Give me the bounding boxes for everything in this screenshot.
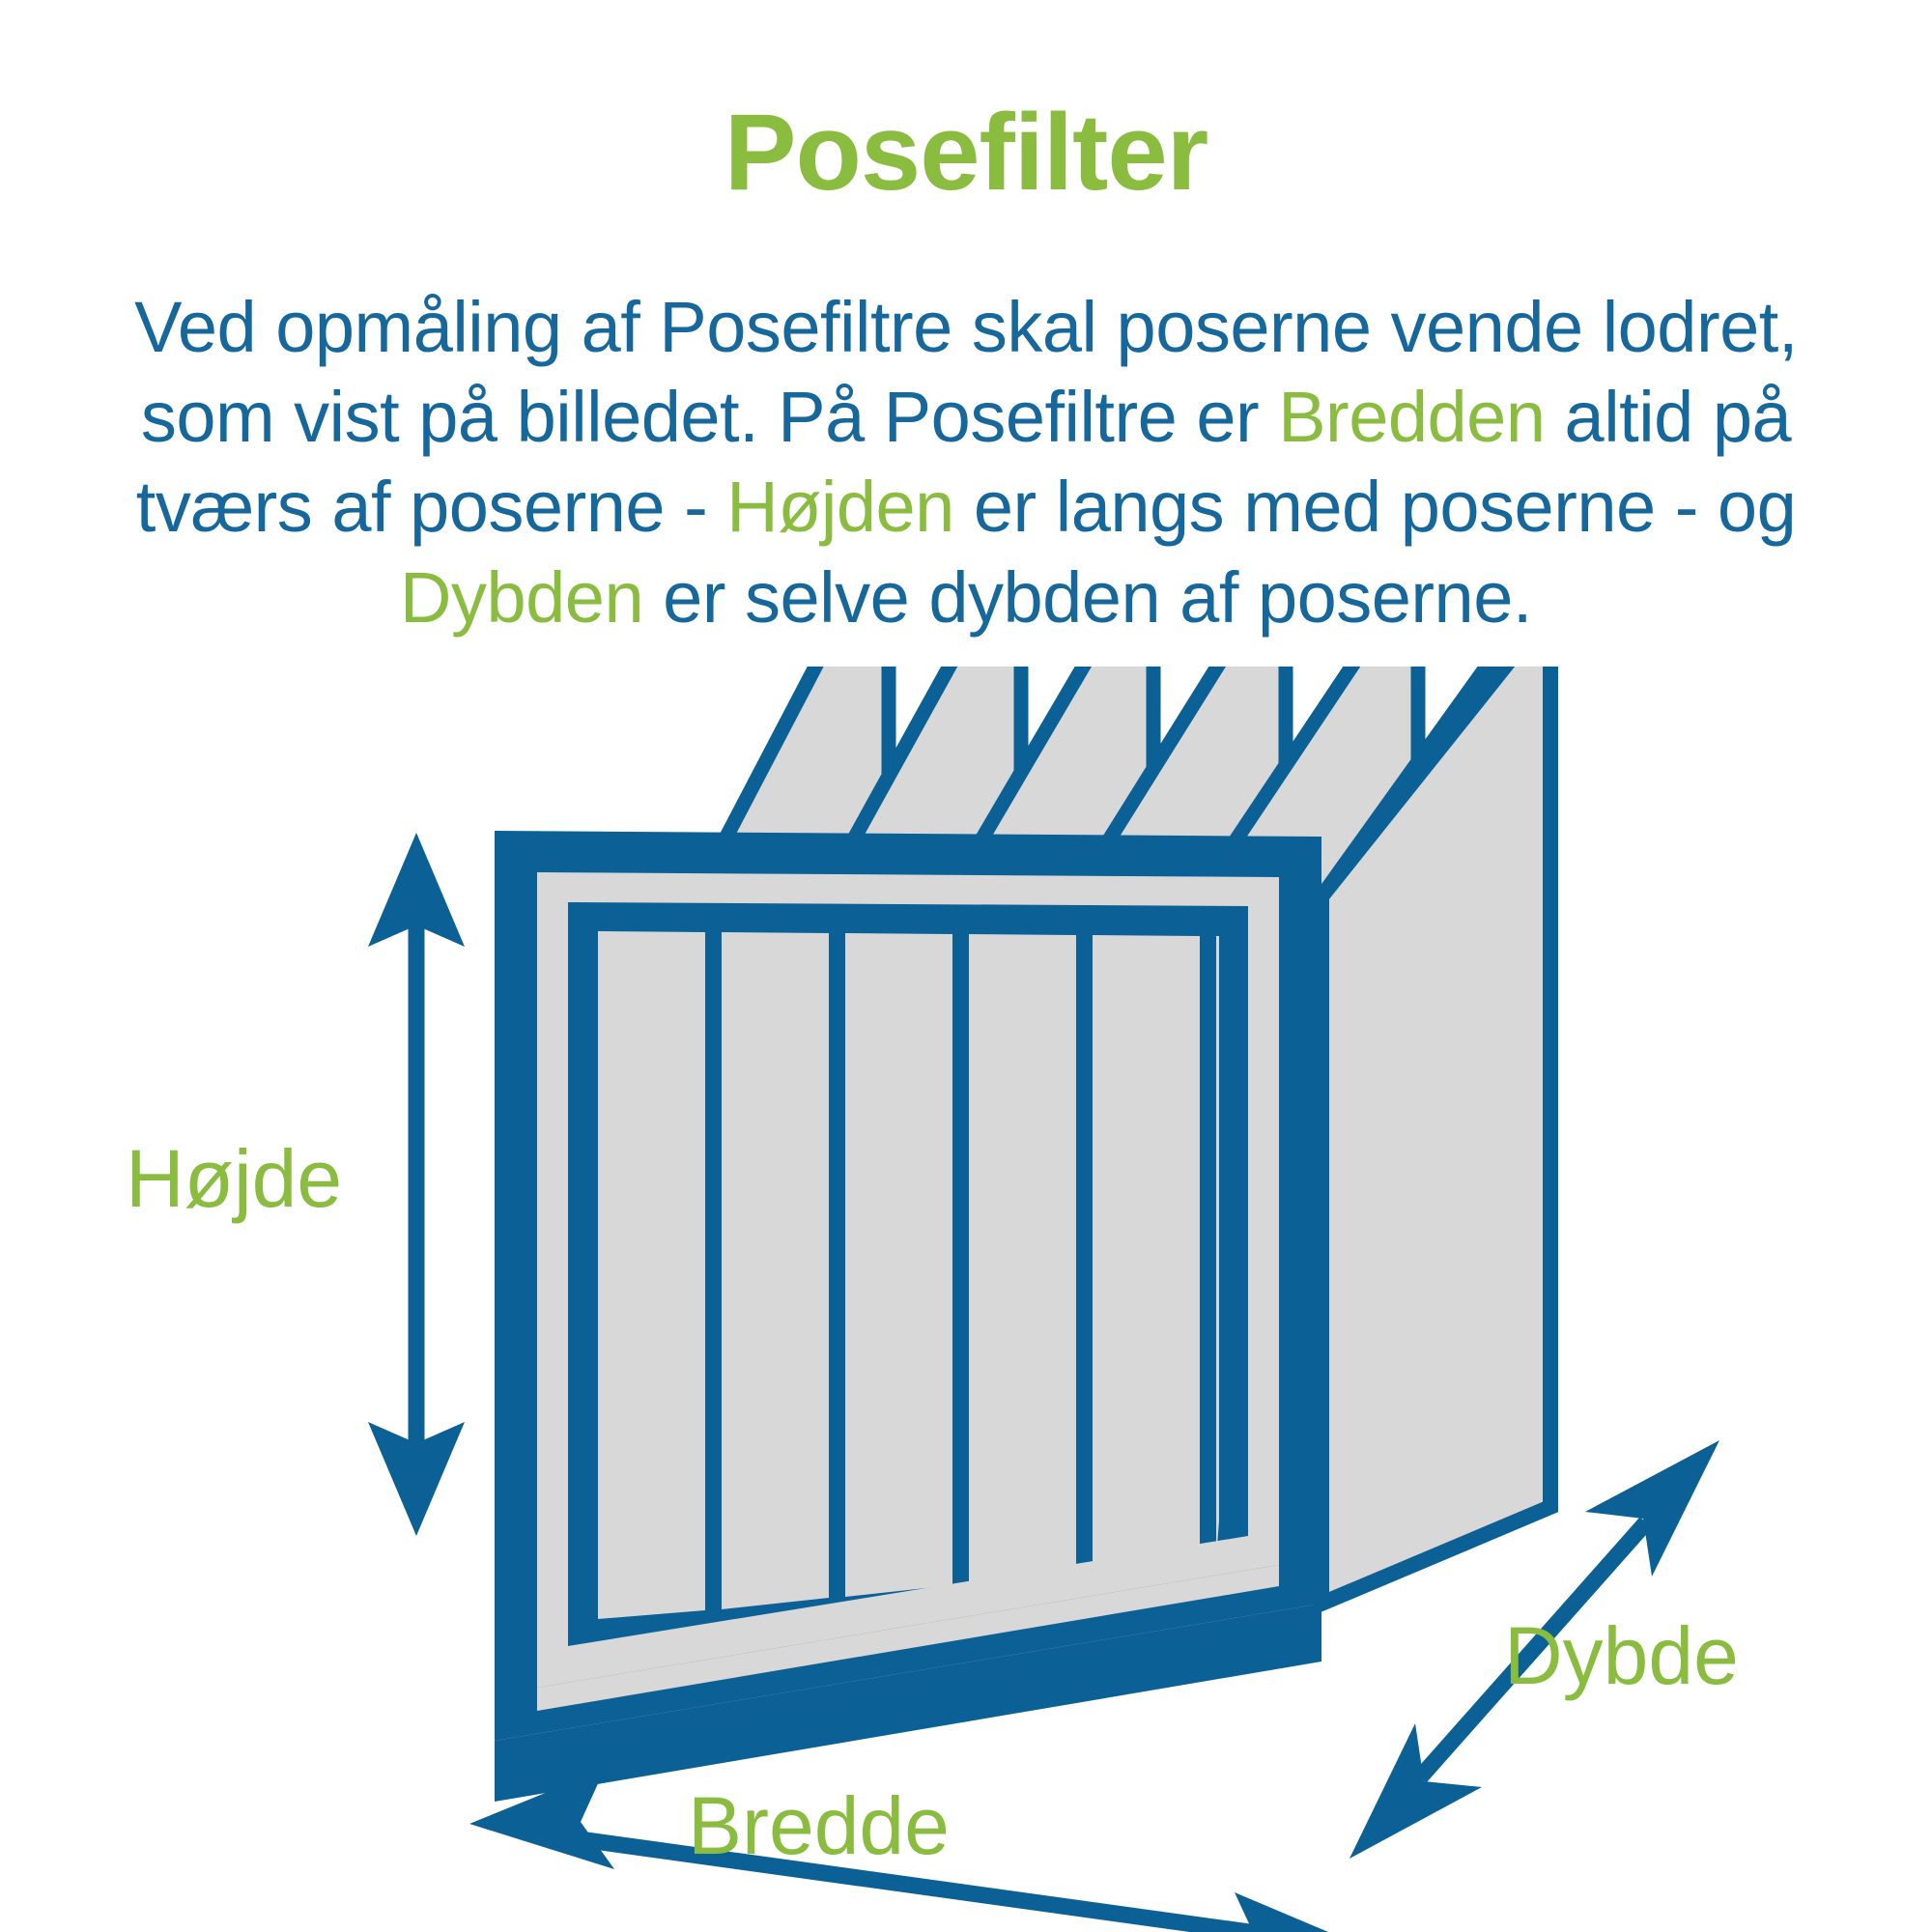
intro-segment-3: er langs med poserne - og bbox=[954, 467, 1796, 547]
bag-cell bbox=[1093, 935, 1200, 1572]
depth-dimension-label: Dybde bbox=[1504, 1615, 1739, 1696]
intro-highlight-dybden: Dybden bbox=[400, 557, 643, 638]
poster-canvas: Posefilter Ved opmåling af Posefiltre sk… bbox=[0, 0, 1932, 1932]
intro-highlight-bredden: Bredden bbox=[1278, 377, 1545, 457]
page-title: Posefilter bbox=[0, 93, 1932, 212]
intro-paragraph: Ved opmåling af Posefiltre skal poserne … bbox=[77, 282, 1855, 642]
filter-bag-cells bbox=[598, 931, 1219, 1619]
height-dimension-label: Højde bbox=[126, 1138, 342, 1219]
intro-highlight-hojden: Højden bbox=[726, 467, 954, 547]
depth-arrow-head-down-left bbox=[1350, 1723, 1482, 1859]
bag-cell bbox=[722, 932, 829, 1609]
bag-cell bbox=[845, 933, 952, 1597]
intro-segment-4: er selve dybden af poserne. bbox=[643, 557, 1532, 638]
filter-diagram bbox=[0, 667, 1932, 1932]
bag-cell bbox=[969, 934, 1076, 1584]
bag-cell bbox=[598, 931, 705, 1619]
width-dimension-label: Bredde bbox=[688, 1785, 950, 1866]
bag-cell bbox=[1216, 936, 1219, 1559]
height-arrow bbox=[368, 833, 465, 1536]
filter-diagram-svg bbox=[0, 667, 1932, 1932]
